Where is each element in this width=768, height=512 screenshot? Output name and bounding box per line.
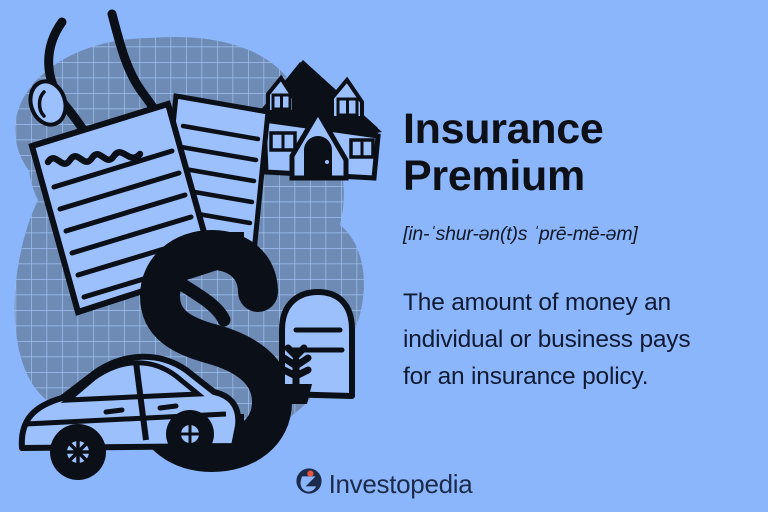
- title-line-2: Premium: [403, 152, 585, 200]
- investopedia-logo: Investopedia: [0, 468, 768, 499]
- definition-line-2: individual or business pays: [403, 326, 690, 353]
- page-title: Insurance Premium: [403, 106, 733, 200]
- pronunciation: [in-ˈshur-ən(t)s ˈprē-mē-əm]: [403, 222, 733, 246]
- illustration: [0, 0, 400, 512]
- definition-text: The amount of money an individual or bus…: [403, 284, 723, 395]
- illustration-svg: [0, 0, 400, 512]
- insurance-premium-definition-card: Insurance Premium [in-ˈshur-ən(t)s ˈprē-…: [0, 0, 768, 512]
- title-line-1: Insurance: [403, 105, 603, 153]
- text-column: Insurance Premium [in-ˈshur-ən(t)s ˈprē-…: [400, 0, 768, 512]
- investopedia-wordmark: Investopedia: [329, 469, 473, 499]
- definition-line-1: The amount of money an: [403, 289, 671, 316]
- investopedia-logo-mark: [296, 468, 322, 499]
- definition-line-3: for an insurance policy.: [403, 363, 648, 390]
